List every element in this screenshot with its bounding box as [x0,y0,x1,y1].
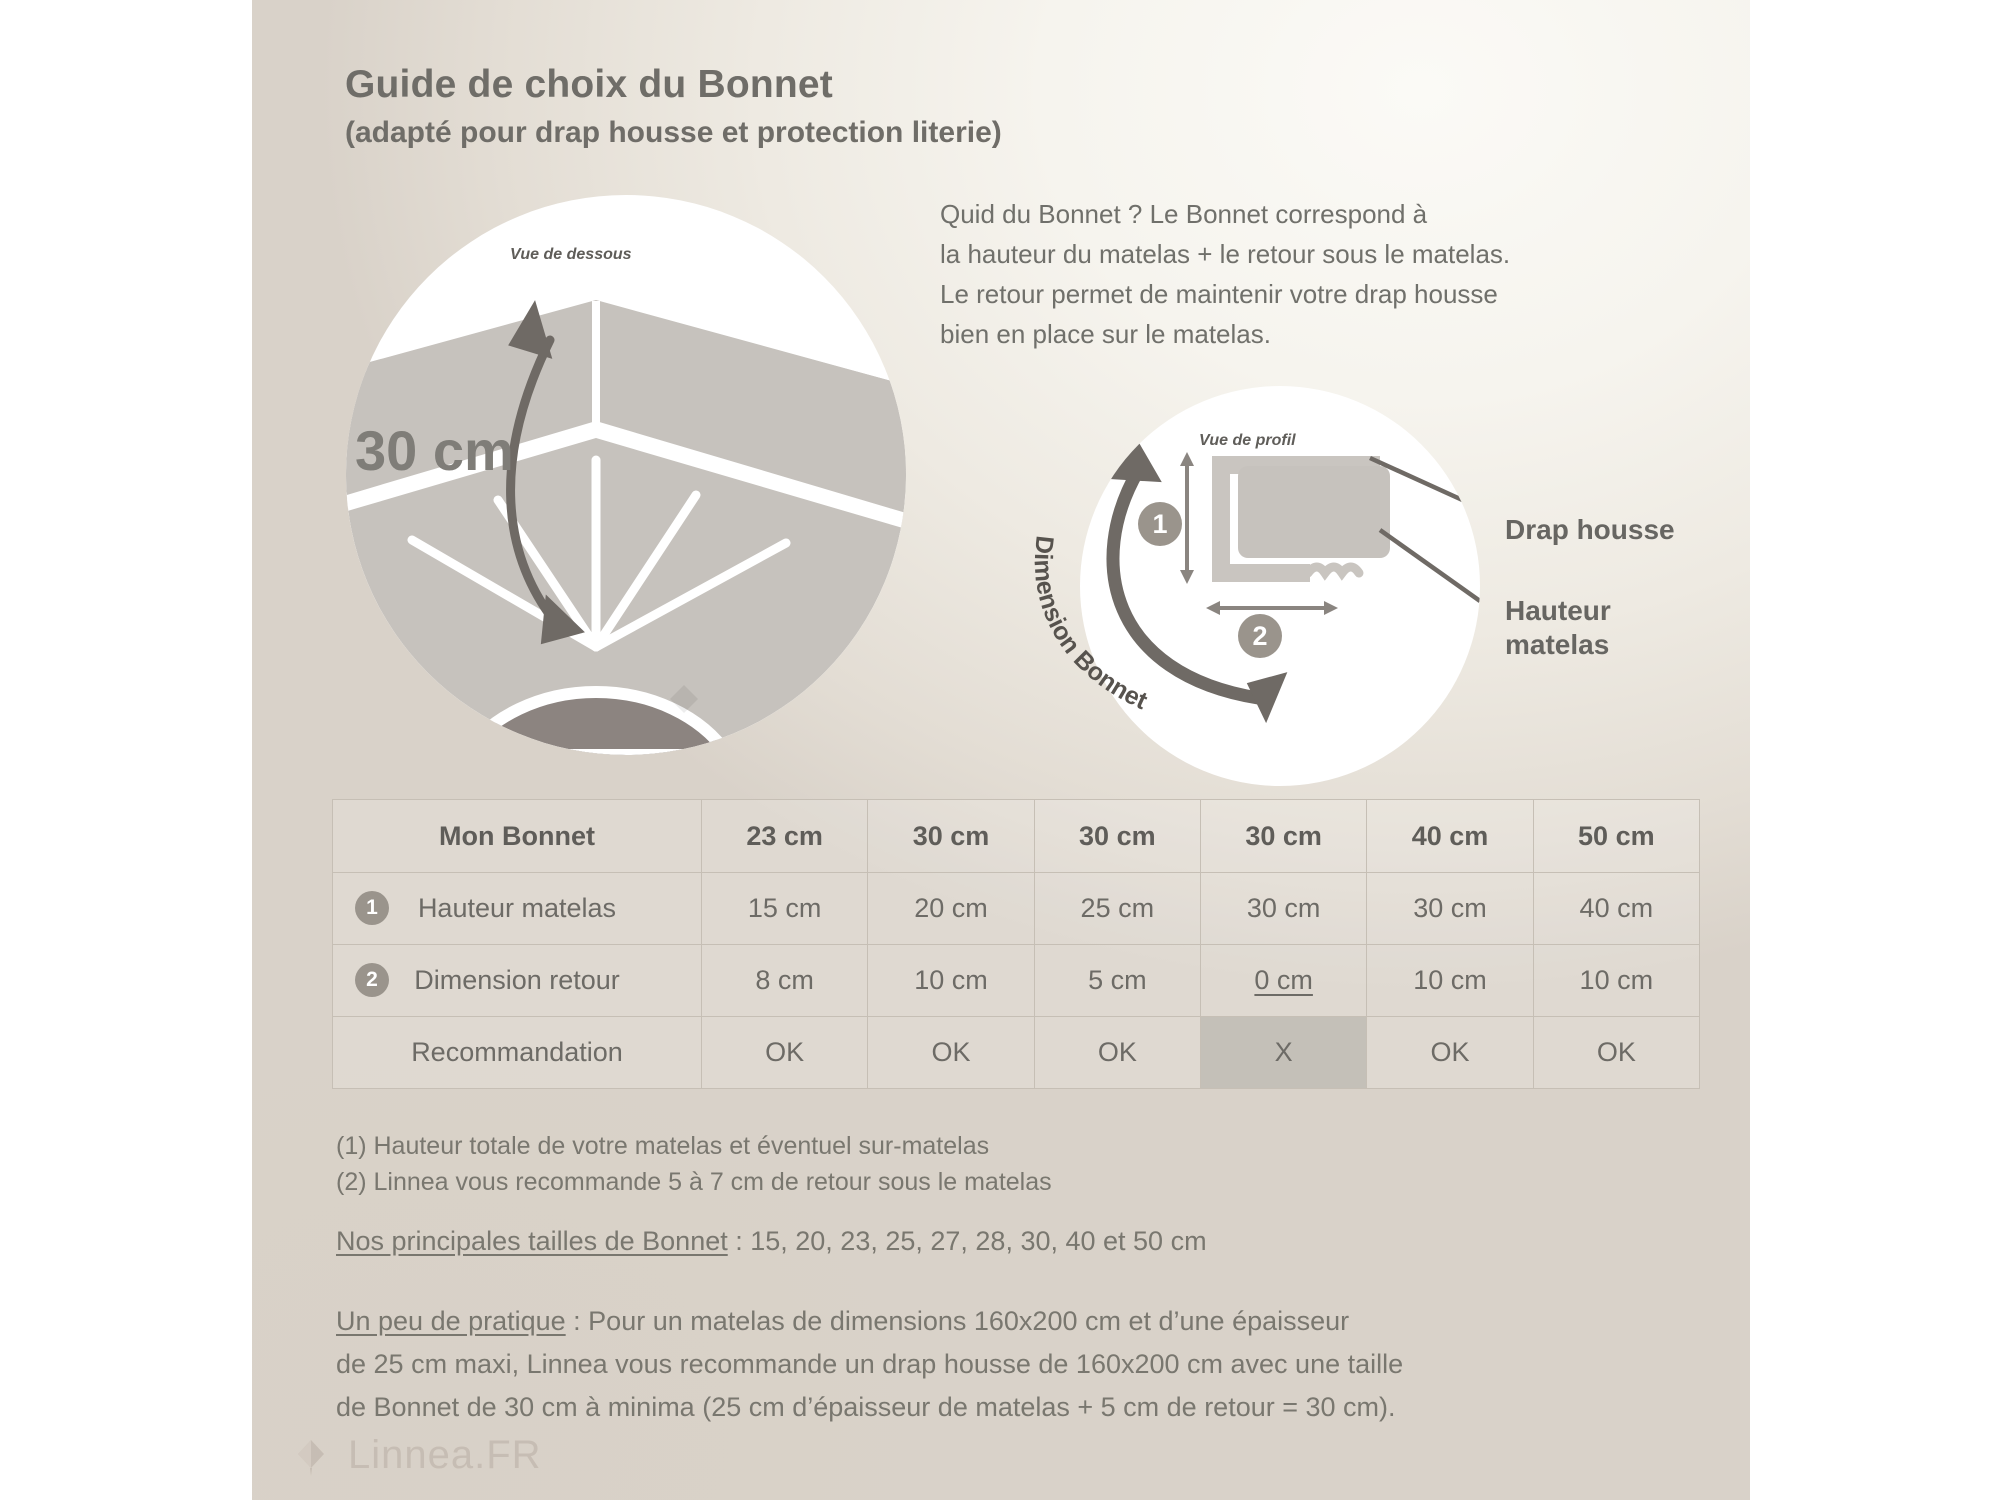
cell-hauteur-3: 30 cm [1200,873,1366,945]
cell-hauteur-2: 25 cm [1034,873,1200,945]
table-header-col-2: 30 cm [1034,800,1200,873]
bonnet-table: Mon Bonnet 23 cm 30 cm 30 cm 30 cm 40 cm… [332,799,1700,1089]
bonnet-measure-label: 30 cm [355,418,514,483]
table-header-col-5: 50 cm [1533,800,1699,873]
sizes-label: Nos principales tailles de Bonnet [336,1226,728,1256]
table-row-hauteur-matelas: 1 Hauteur matelas 15 cm 20 cm 25 cm 30 c… [333,873,1700,945]
cell-reco-4: OK [1367,1017,1533,1089]
caption-vue-de-profil: Vue de profil [1199,432,1296,450]
practice-label: Un peu de pratique [336,1306,566,1336]
elastic-squiggle [1308,567,1359,573]
callout-drap-housse: Drap housse [1505,513,1675,547]
practice-line-2: de 25 cm maxi, Linnea vous recommande un… [336,1343,1696,1386]
cell-reco-2: OK [1034,1017,1200,1089]
cell-retour-2: 5 cm [1034,945,1200,1017]
cell-hauteur-1: 20 cm [868,873,1034,945]
cell-retour-3: 0 cm [1200,945,1366,1017]
cell-hauteur-0: 15 cm [702,873,868,945]
page-title: Guide de choix du Bonnet [345,63,833,107]
cell-retour-5: 10 cm [1533,945,1699,1017]
table-header-col-1: 30 cm [868,800,1034,873]
table-header-col-0: 23 cm [702,800,868,873]
cell-hauteur-4: 30 cm [1367,873,1533,945]
row-label-dimension-retour: 2 Dimension retour [333,945,702,1017]
intro-paragraph: Quid du Bonnet ? Le Bonnet correspond à … [940,194,1700,354]
cell-retour-1: 10 cm [868,945,1034,1017]
sizes-value: : 15, 20, 23, 25, 27, 28, 30, 40 et 50 c… [728,1226,1207,1256]
callout-hauteur-matelas: Hauteur matelas [1505,594,1611,662]
cell-reco-5: OK [1533,1017,1699,1089]
table-header-label: Mon Bonnet [333,800,702,873]
practice-line-3: de Bonnet de 30 cm à minima (25 cm d’épa… [336,1386,1696,1429]
cell-retour-4: 10 cm [1367,945,1533,1017]
page-subtitle: (adapté pour drap housse et protection l… [345,116,1002,150]
intro-line-1: Quid du Bonnet ? Le Bonnet correspond à [940,194,1700,234]
sizes-line: Nos principales tailles de Bonnet : 15, … [336,1226,1207,1257]
cell-reco-3: X [1200,1017,1366,1089]
row-marker-2-icon: 2 [355,963,389,997]
row-label-recommandation: Recommandation [333,1017,702,1089]
callout-hauteur-line-1: Hauteur [1505,594,1611,628]
row-label-dimension-retour-text: Dimension retour [414,965,620,995]
practice-line-1: Un peu de pratique : Pour un matelas de … [336,1300,1696,1343]
practice-block: Un peu de pratique : Pour un matelas de … [336,1300,1696,1429]
table-row-recommandation: Recommandation OK OK OK X OK OK [333,1017,1700,1089]
callout-hauteur-line-2: matelas [1505,628,1611,662]
table-header-col-3: 30 cm [1200,800,1366,873]
poster-root: Guide de choix du Bonnet (adapté pour dr… [0,0,2000,1500]
cell-hauteur-5: 40 cm [1533,873,1699,945]
footnote-2: (2) Linnea vous recommande 5 à 7 cm de r… [336,1164,1676,1200]
intro-line-2: la hauteur du matelas + le retour sous l… [940,234,1700,274]
intro-line-4: bien en place sur le matelas. [940,314,1700,354]
linnea-logo[interactable]: Linnea.FR [288,1432,542,1478]
table-header-col-4: 40 cm [1367,800,1533,873]
table-row-dimension-retour: 2 Dimension retour 8 cm 10 cm 5 cm 0 cm … [333,945,1700,1017]
linnea-diamond-icon [288,1432,334,1478]
leader-line-hauteur [1380,530,1480,601]
row-label-hauteur-matelas: 1 Hauteur matelas [333,873,702,945]
footnote-1: (1) Hauteur totale de votre matelas et é… [336,1128,1676,1164]
cell-retour-0: 8 cm [702,945,868,1017]
dimension-bonnet-label: Dimension Bonnet [1040,560,1280,600]
row-label-hauteur-matelas-text: Hauteur matelas [418,893,616,923]
svg-text:Dimension Bonnet: Dimension Bonnet [1029,534,1153,715]
table-row-header: Mon Bonnet 23 cm 30 cm 30 cm 30 cm 40 cm… [333,800,1700,873]
intro-line-3: Le retour permet de maintenir votre drap… [940,274,1700,314]
linnea-logo-text: Linnea.FR [348,1433,542,1478]
practice-line-1-rest: : Pour un matelas de dimensions 160x200 … [566,1306,1349,1336]
cell-reco-1: OK [868,1017,1034,1089]
caption-vue-de-dessous: Vue de dessous [510,246,632,264]
row-marker-1-icon: 1 [355,891,389,925]
arc-label-text: Dimension Bonnet [1029,534,1153,715]
cell-reco-0: OK [702,1017,868,1089]
footnotes: (1) Hauteur totale de votre matelas et é… [336,1128,1676,1200]
